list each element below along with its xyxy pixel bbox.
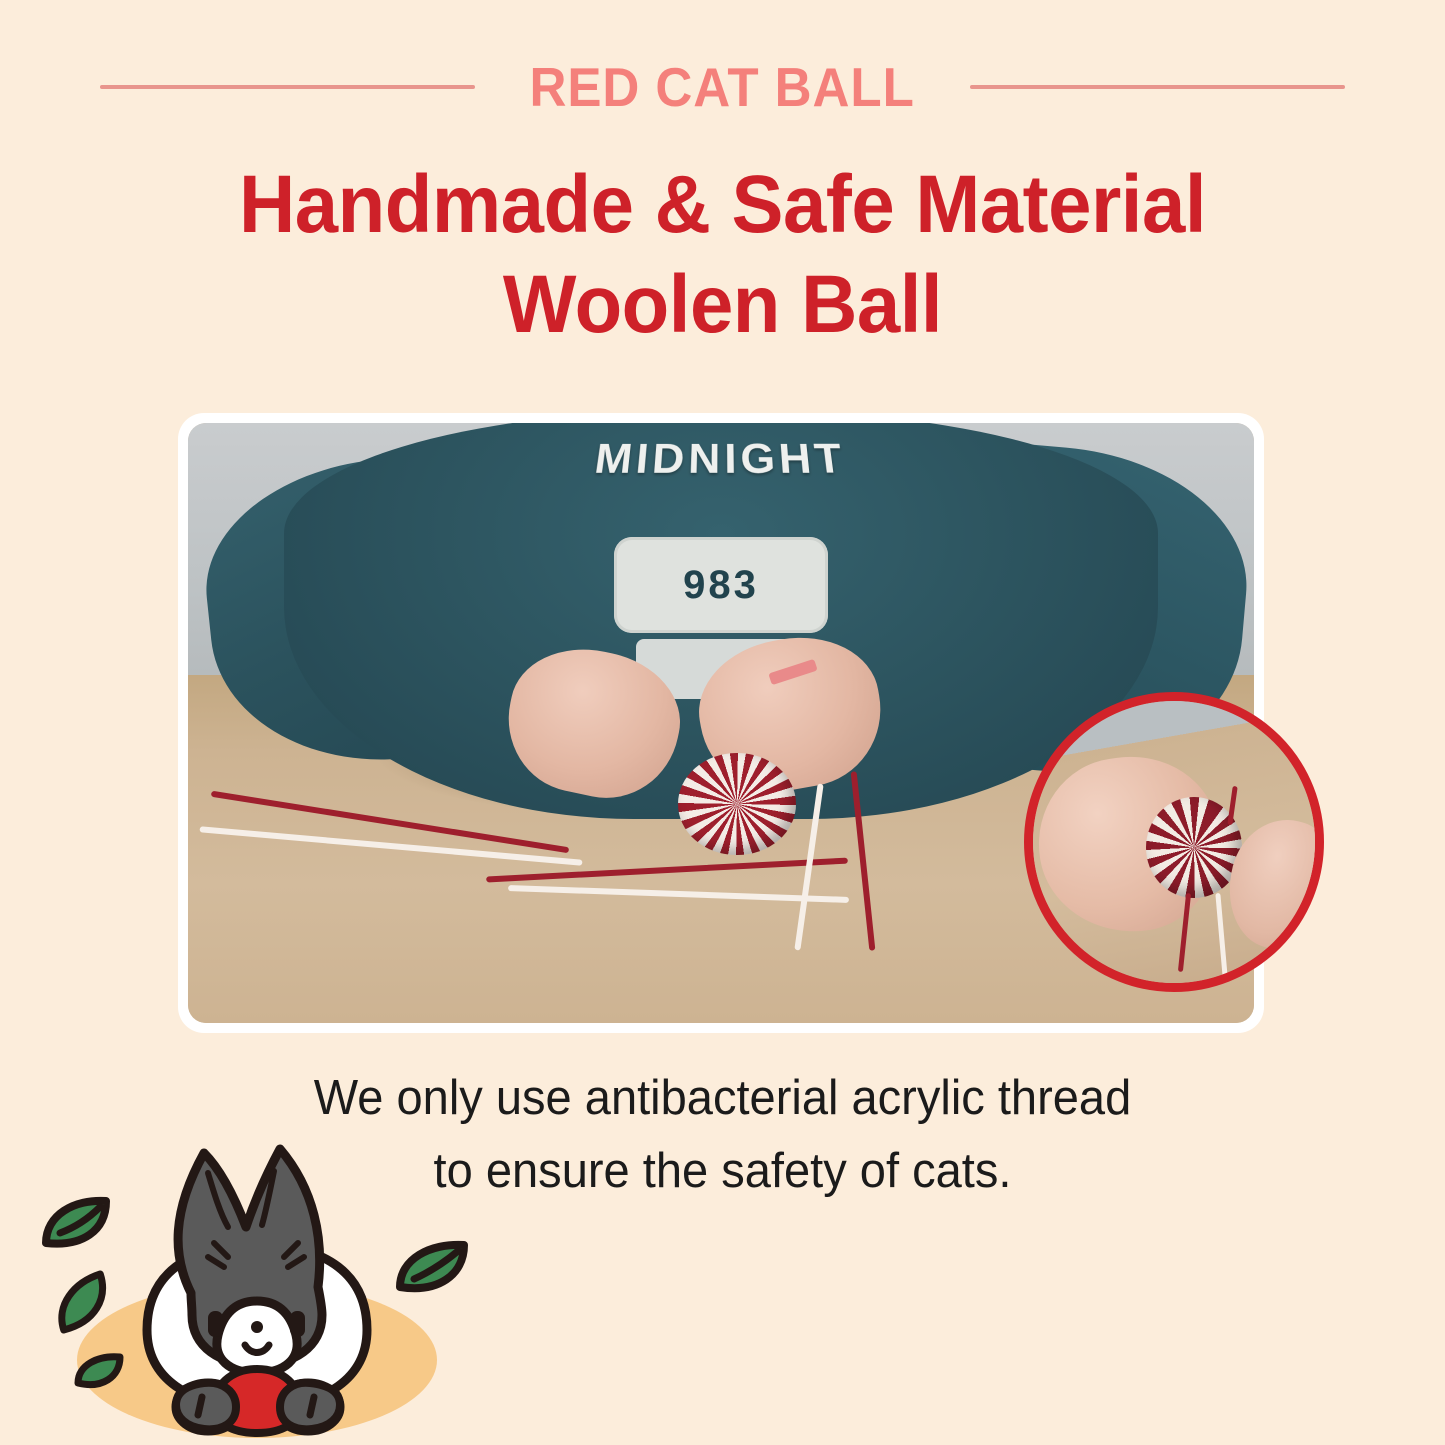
mascot-eye-right <box>290 1311 305 1337</box>
photo-woolen-ball-in-progress <box>678 753 795 855</box>
mascot-eye-left <box>208 1311 223 1337</box>
mascot-paw-line-left <box>198 1397 202 1415</box>
headline-line-2: Woolen Ball <box>36 255 1409 355</box>
cat-mascot-illustration <box>22 1115 492 1445</box>
page-title: Handmade & Safe Material Woolen Ball <box>0 155 1445 355</box>
inset-finished-woolen-ball <box>1146 797 1242 899</box>
mascot-paw-line-right <box>310 1397 314 1415</box>
divider-rule-right-icon <box>970 85 1345 89</box>
divider-rule-left-icon <box>100 85 475 89</box>
headline-line-1: Handmade & Safe Material <box>36 155 1409 255</box>
leaf-upper-left-icon <box>46 1201 106 1244</box>
leaf-right-icon <box>400 1245 464 1288</box>
kicker-row: RED CAT BALL <box>0 48 1445 126</box>
mascot-nose <box>251 1321 263 1333</box>
mascot-paw-front-left <box>176 1383 236 1430</box>
kicker-label: RED CAT BALL <box>530 55 915 119</box>
sweatshirt-wordmark: MIDNIGHT <box>470 434 972 551</box>
mascot-muzzle <box>217 1301 297 1373</box>
closeup-inset-photo <box>1024 692 1324 992</box>
sweatshirt-number-badge: 983 <box>614 537 827 633</box>
